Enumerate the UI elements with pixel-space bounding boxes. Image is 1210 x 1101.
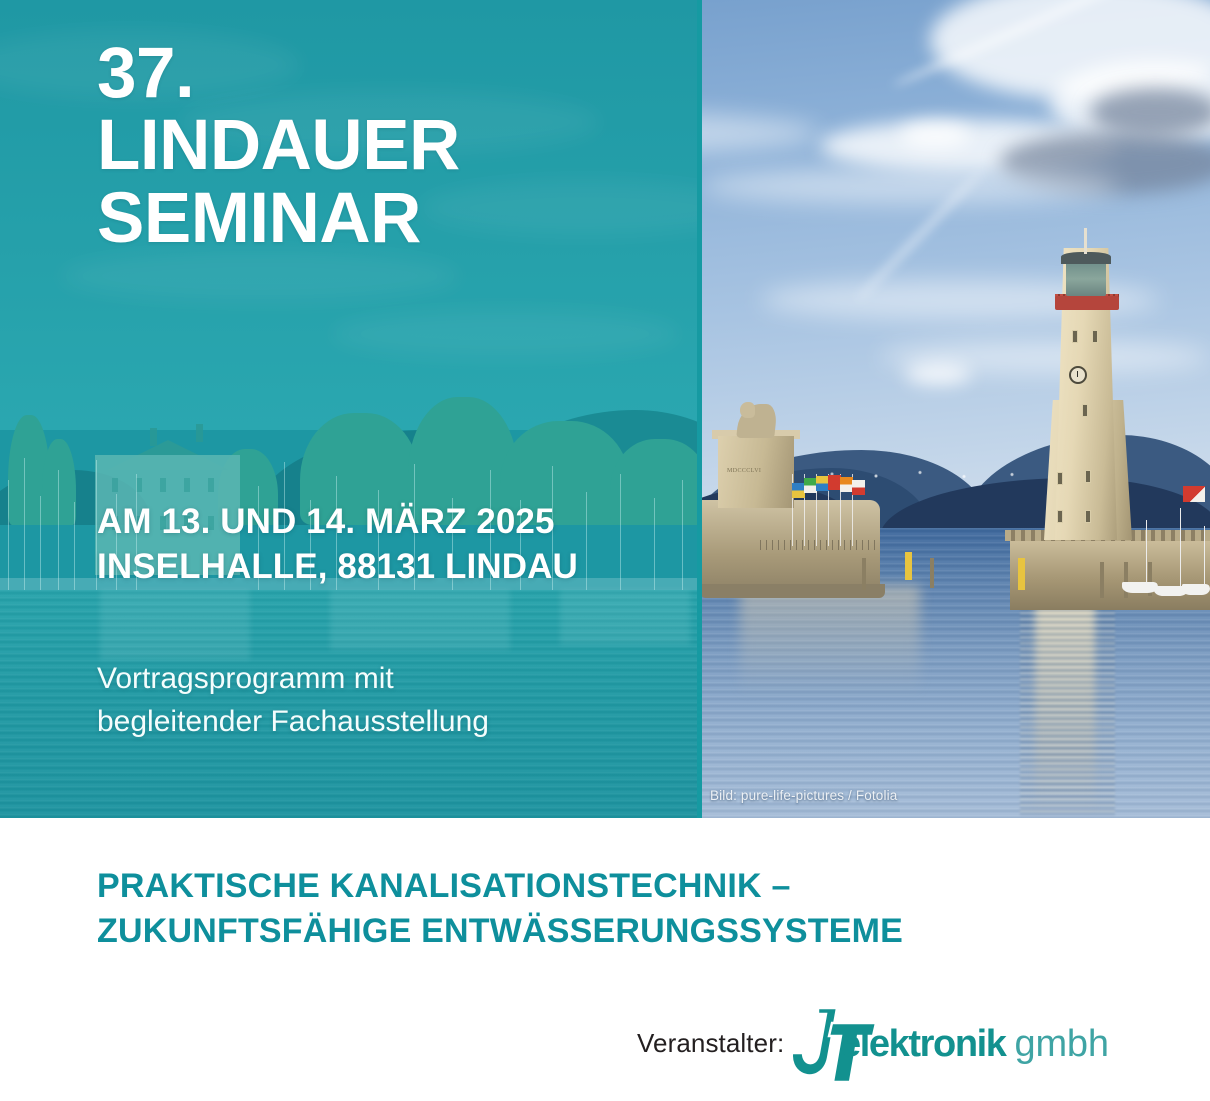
logo-wordmark: elektronikgmbh [840,1025,1109,1063]
event-date-venue: AM 13. UND 14. MÄRZ 2025 INSELHALLE, 881… [97,500,578,590]
organizer-label: Veranstalter: [637,1028,784,1059]
cloud-wisp-icon [700,168,1120,204]
lighthouse-window [1092,330,1098,343]
lighthouse-antenna [1084,228,1087,254]
cloud-icon [905,363,971,385]
cloud-icon [900,122,970,148]
seminar-poster: MDCCCLVI [0,0,1210,1101]
hero-text-block: 37. LINDAUER SEMINAR AM 13. UND 14. MÄRZ… [0,0,700,818]
lighthouse-clock-icon [1069,366,1087,384]
mooring-post [930,558,934,588]
logo-word-gmbh: gmbh [1015,1023,1109,1065]
photo-credit: Bild: pure-life-pictures / Fotolia [710,788,897,803]
lighthouse-window [1085,510,1091,523]
seminar-subject-heading: PRAKTISCHE KANALISATIONSTECHNIK – ZUKUNF… [97,864,903,953]
mooring-post [1100,562,1104,598]
event-tagline: Vortragsprogramm mit begleitender Fachau… [97,658,489,743]
bavarian-lion-head [740,402,755,418]
lighthouse-window [1072,330,1078,343]
jt-elektronik-logo[interactable]: elektronikgmbh [788,1003,1128,1085]
harbour-flag-icon [1183,486,1205,502]
sailboat-mast [1180,508,1181,586]
lighthouse-red-gallery [1055,296,1119,310]
sailboat-mast [1146,520,1147,582]
reflection-ripple-stripes [1020,600,1115,815]
buoy-marker [905,552,912,580]
boat-icon [1122,582,1158,593]
cloud-dark-icon [1090,88,1210,136]
lighthouse-window [1082,404,1088,417]
lighthouse-lantern-room [1066,262,1106,296]
flag-icon [852,480,865,495]
lighthouse-window [1085,470,1091,483]
lighthouse-window [1057,472,1063,485]
page-title: 37. LINDAUER SEMINAR [97,38,460,255]
sailboat-mast [1204,526,1205,584]
buoy-marker [1018,558,1025,590]
lighthouse-window [1057,510,1063,523]
monument-inscription: MDCCCLVI [727,468,761,474]
hero-banner: MDCCCLVI [0,0,1210,818]
moored-boats [1120,560,1210,605]
reflection-monument [740,585,920,695]
mooring-post [862,558,866,590]
logo-word-elektronik: elektronik [840,1023,1006,1065]
flag-row [790,474,860,546]
boat-icon [1182,584,1210,595]
pier-left-edge [700,584,885,598]
